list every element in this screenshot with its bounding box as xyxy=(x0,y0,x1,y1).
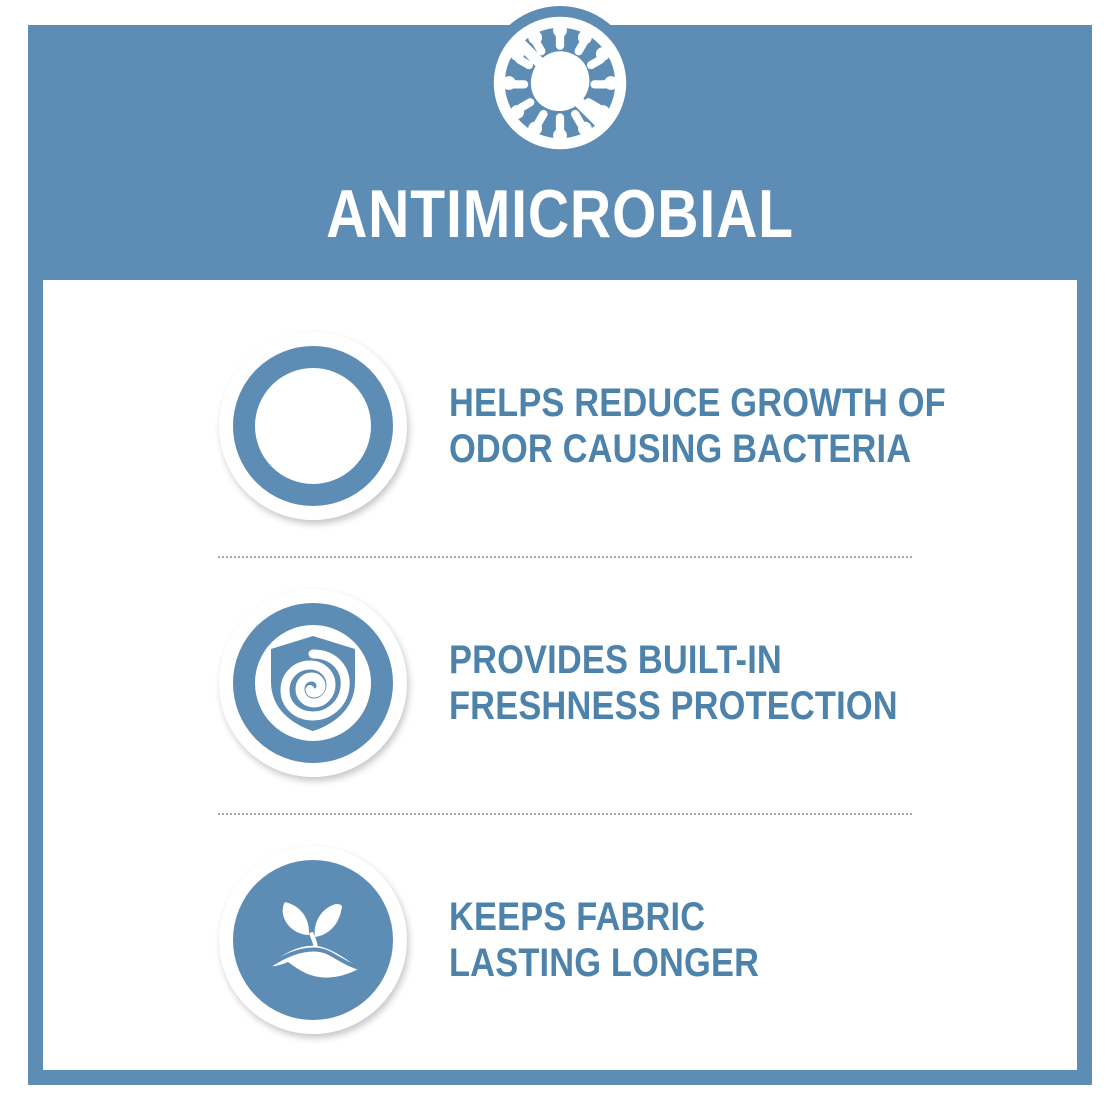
feature-icon-badge xyxy=(219,846,407,1034)
feature-row: KEEPS FABRIC LASTING LONGER xyxy=(43,832,1077,1047)
hero-no-germs-icon xyxy=(483,6,637,160)
content-panel: HELPS REDUCE GROWTH OF ODOR CAUSING BACT… xyxy=(43,280,1077,1070)
antimicrobial-infographic: HELPS REDUCE GROWTH OF ODOR CAUSING BACT… xyxy=(0,0,1120,1120)
feature-text: HELPS REDUCE GROWTH OF ODOR CAUSING BACT… xyxy=(449,380,946,472)
no-germs-icon xyxy=(261,374,365,478)
page-title: ANTIMICROBIAL xyxy=(113,178,1007,250)
shield-swirl-icon xyxy=(265,632,361,734)
feature-icon-badge xyxy=(219,589,407,777)
plant-sprout-icon xyxy=(254,890,372,990)
feature-text: KEEPS FABRIC LASTING LONGER xyxy=(449,894,759,986)
badge-disc xyxy=(233,860,393,1020)
badge-disc xyxy=(233,346,393,506)
feature-line-1: PROVIDES BUILT-IN xyxy=(449,637,898,683)
row-divider xyxy=(218,813,912,815)
feature-text: PROVIDES BUILT-IN FRESHNESS PROTECTION xyxy=(449,637,898,729)
feature-line-2: LASTING LONGER xyxy=(449,940,759,986)
feature-row: PROVIDES BUILT-IN FRESHNESS PROTECTION xyxy=(43,575,1077,790)
feature-line-1: HELPS REDUCE GROWTH OF xyxy=(449,380,946,426)
feature-line-2: FRESHNESS PROTECTION xyxy=(449,683,898,729)
feature-line-1: KEEPS FABRIC xyxy=(449,894,759,940)
badge-disc xyxy=(233,603,393,763)
feature-row: HELPS REDUCE GROWTH OF ODOR CAUSING BACT… xyxy=(43,318,1077,533)
feature-line-2: ODOR CAUSING BACTERIA xyxy=(449,426,946,472)
row-divider xyxy=(218,556,912,558)
feature-icon-badge xyxy=(219,332,407,520)
